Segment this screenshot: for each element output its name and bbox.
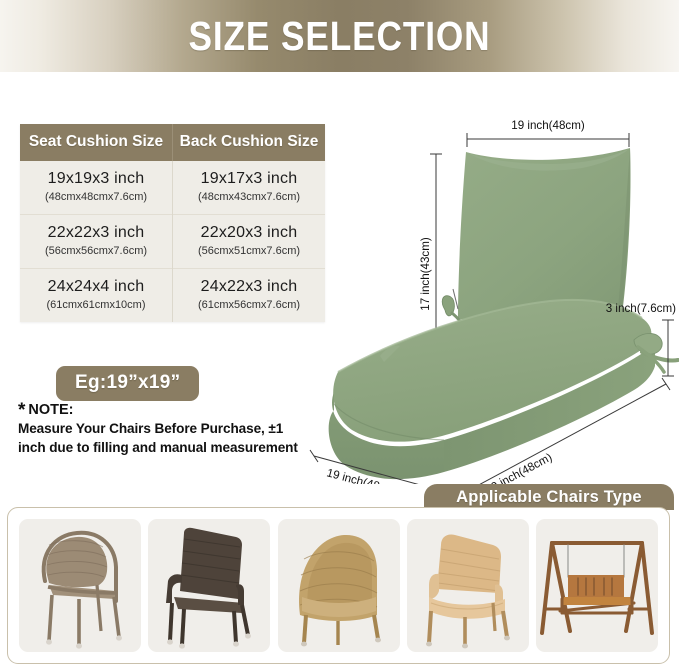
chair-thumbnail-round-back-wicker-arm-chair[interactable] [19,519,141,652]
table-header-row: Seat Cushion Size Back Cushion Size [20,124,325,161]
asterisk-icon: * [18,400,25,421]
cell-seat-size: 22x22x3 inch (56cmx56cmx7.6cm) [20,215,173,269]
seat-cushion-shape [329,300,655,479]
seat-size-inch: 24x24x4 inch [22,277,170,297]
chair-thumbnail-wooden-porch-swing[interactable] [536,519,658,652]
cell-seat-size: 24x24x4 inch (61cmx61cmx10cm) [20,269,173,323]
seat-size-inch: 19x19x3 inch [22,169,170,189]
high-back-dark-wicker-chair-icon [166,528,251,649]
round-back-wicker-arm-chair-icon [44,533,122,649]
note-heading: *NOTE: [18,402,308,419]
page-title: SIZE SELECTION [48,14,632,58]
cushion-dimension-diagram: 19 inch(48cm) 17 inch(43cm) 3 i [282,104,679,484]
seat-size-cm: (61cmx61cmx10cm) [22,298,170,313]
chair-thumbnail-light-wicker-arm-chair[interactable] [407,519,529,652]
example-size-badge: Eg:19”x19” [56,366,199,401]
chair-thumbnail-high-back-dark-wicker-chair[interactable] [148,519,270,652]
wooden-porch-swing-icon [542,543,652,633]
table-row: 19x19x3 inch (48cmx48cmx7.6cm) 19x17x3 i… [20,161,325,215]
seat-thickness-dimension [662,320,674,376]
note-heading-label: NOTE: [28,402,73,418]
seat-depth-label: 19 inch(48cm) [483,451,554,484]
back-width-label: 19 inch(48cm) [511,119,585,132]
header-banner: SIZE SELECTION [0,0,679,72]
light-wicker-arm-chair-icon [426,534,510,648]
back-height-label: 17 inch(43cm) [419,237,432,311]
column-header-seat-cushion: Seat Cushion Size [20,124,173,161]
back-width-dimension [467,133,629,147]
cell-seat-size: 19x19x3 inch (48cmx48cmx7.6cm) [20,161,173,215]
barrel-wicker-tub-chair-icon [299,535,381,646]
table-row: 24x24x4 inch (61cmx61cmx10cm) 24x22x3 in… [20,269,325,323]
table-row: 22x22x3 inch (56cmx56cmx7.6cm) 22x20x3 i… [20,215,325,269]
note-block: *NOTE: Measure Your Chairs Before Purcha… [18,402,308,457]
note-line-1: Measure Your Chairs Before Purchase, ±1 [18,419,308,438]
seat-thickness-label: 3 inch(7.6cm) [606,302,676,315]
size-chart-table: Seat Cushion Size Back Cushion Size 19x1… [20,124,325,322]
seat-size-cm: (56cmx56cmx7.6cm) [22,244,170,259]
seat-size-inch: 22x22x3 inch [22,223,170,243]
applicable-chairs-panel [7,507,670,664]
chair-thumbnail-barrel-wicker-tub-chair[interactable] [278,519,400,652]
seat-size-cm: (48cmx48cmx7.6cm) [22,190,170,205]
note-line-2: inch due to filling and manual measureme… [18,438,308,457]
